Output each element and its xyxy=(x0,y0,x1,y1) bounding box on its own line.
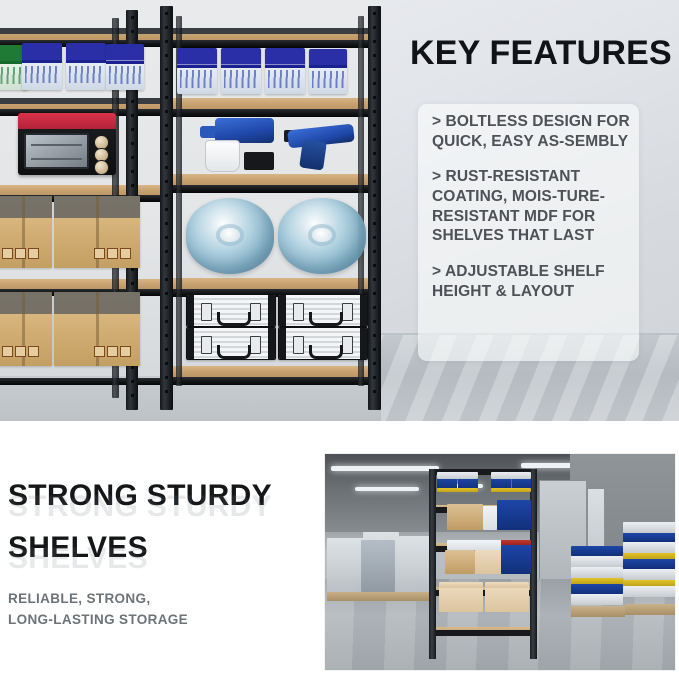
shelf-beam-2 xyxy=(160,109,381,117)
storage-bin xyxy=(571,556,623,567)
water-jug xyxy=(278,198,366,274)
subtext-line-1: RELIABLE, STRONG, xyxy=(8,589,308,610)
paint-can xyxy=(177,48,217,94)
paint-can xyxy=(66,43,106,90)
paint-can xyxy=(22,43,62,90)
aluminum-tool-case xyxy=(186,294,276,327)
bin-rail xyxy=(437,488,478,492)
warehouse-cardboard-box xyxy=(439,584,483,612)
key-features-heading: KEY FEATURES xyxy=(410,36,672,70)
feature-item-adjustable: > ADJUSTABLE SHELF HEIGHT & LAYOUT xyxy=(432,262,638,301)
shelf-beam-5 xyxy=(160,377,381,385)
subtext-line-2: LONG-LASTING STORAGE xyxy=(8,610,308,631)
warehouse-white-box xyxy=(447,540,501,550)
aluminum-tool-case xyxy=(278,294,368,327)
warehouse-white-box xyxy=(483,506,497,530)
cardboard-box xyxy=(54,292,140,366)
storage-bin xyxy=(437,472,478,479)
storage-bin xyxy=(571,546,623,556)
warehouse-cardboard-box xyxy=(475,548,501,574)
headline-line-2: SHELVES xyxy=(8,533,318,563)
water-jug xyxy=(186,198,274,274)
strong-sturdy-shelves-section: STRONG STURDY SHELVES RELIABLE, STRONG, … xyxy=(0,421,679,674)
storage-bin xyxy=(501,544,531,574)
storage-bin xyxy=(623,542,675,553)
toaster-oven xyxy=(18,113,116,175)
warehouse-cardboard-box xyxy=(439,582,483,588)
bottom-subtext: RELIABLE, STRONG, LONG-LASTING STORAGE xyxy=(8,589,308,631)
paint-can xyxy=(106,44,144,90)
heat-gun-tool xyxy=(288,124,360,170)
aluminum-tool-case xyxy=(186,327,276,360)
shelf-beam-5 xyxy=(0,378,164,385)
wrapped-pallet-goods xyxy=(399,536,429,594)
rack-post-right-frontleft xyxy=(160,6,173,410)
paint-sprayer-tool xyxy=(200,118,282,170)
storage-bin xyxy=(623,522,675,533)
cardboard-box xyxy=(0,292,52,366)
headline-line-1: STRONG STURDY xyxy=(8,481,318,511)
storage-bin xyxy=(623,569,675,580)
bottom-headline: STRONG STURDY SHELVES xyxy=(8,481,318,585)
bin-rail xyxy=(491,488,531,492)
warehouse-rack-post xyxy=(429,469,436,659)
feature-item-rust-resistant: > RUST-RESISTANT COATING, MOIS-TURE-RESI… xyxy=(432,167,638,246)
paint-can xyxy=(309,49,347,94)
key-features-section: KEY FEATURES > BOLTLESS DESIGN FOR QUICK… xyxy=(0,0,679,421)
shelf-beam-3 xyxy=(160,185,381,193)
storage-bin xyxy=(491,472,531,479)
cardboard-box xyxy=(54,196,140,268)
product-photo-shelving xyxy=(0,0,381,421)
product-marketing-image: KEY FEATURES > BOLTLESS DESIGN FOR QUICK… xyxy=(0,0,679,674)
ceiling-light xyxy=(355,487,419,491)
wrapped-pallet-goods xyxy=(361,540,395,592)
cardboard-box xyxy=(0,196,52,268)
storage-bin xyxy=(501,540,531,545)
storage-bin xyxy=(623,533,675,542)
rack-post-right-frontright xyxy=(368,6,381,410)
aluminum-tool-case xyxy=(278,327,368,360)
warehouse-photo xyxy=(325,454,675,670)
warehouse-shelf-beam xyxy=(429,630,537,636)
storage-bin xyxy=(571,594,623,605)
warehouse-cardboard-box xyxy=(485,582,529,588)
bin-stack-right xyxy=(571,522,675,612)
wooden-pallet xyxy=(327,592,431,601)
storage-bin xyxy=(571,584,623,594)
warehouse-rack-post xyxy=(530,469,537,659)
wrapped-pallet-goods xyxy=(327,538,365,594)
wooden-pallet xyxy=(625,604,675,615)
shelf-beam-1 xyxy=(160,40,381,48)
warehouse-cardboard-box xyxy=(445,550,475,574)
storage-bin xyxy=(623,559,675,569)
key-features-list: > BOLTLESS DESIGN FOR QUICK, EASY AS-SEM… xyxy=(432,112,638,301)
ceiling-light xyxy=(331,466,439,471)
wooden-pallet xyxy=(571,606,625,617)
warehouse-cardboard-box xyxy=(485,584,529,612)
storage-bin xyxy=(497,500,531,530)
warehouse-cardboard-box xyxy=(447,504,483,530)
paint-can xyxy=(221,48,261,94)
storage-bin xyxy=(623,586,675,597)
feature-item-boltless: > BOLTLESS DESIGN FOR QUICK, EASY AS-SEM… xyxy=(432,112,638,151)
paint-can xyxy=(265,48,305,94)
storage-bin xyxy=(571,567,623,578)
